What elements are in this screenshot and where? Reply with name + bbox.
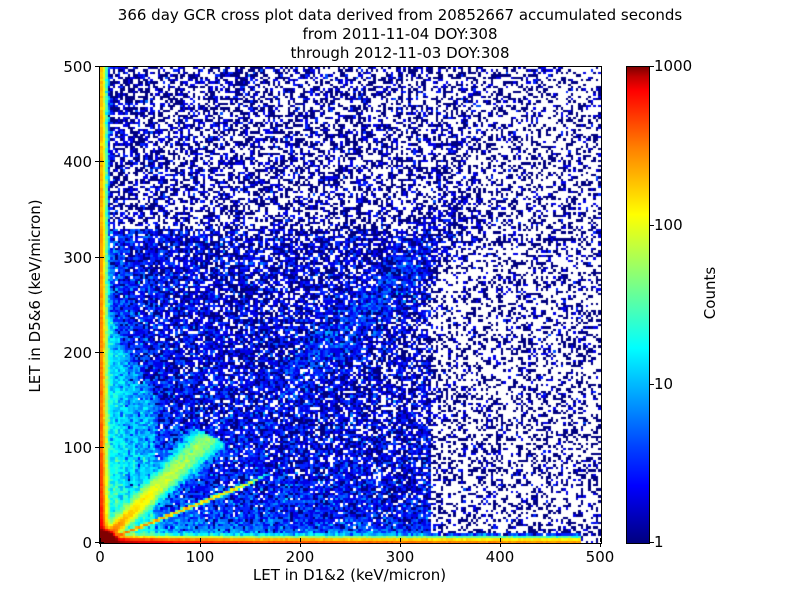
y-axis-label: LET in D5&6 (keV/micron): [26, 131, 44, 461]
y-tick-label-500: 500: [32, 58, 92, 76]
x-axis-label: LET in D1&2 (keV/micron): [99, 566, 600, 584]
x-tick-label-500: 500: [570, 548, 630, 566]
chart-title-line-2: from 2011-11-04 DOY:308: [0, 25, 800, 44]
colorbar: [626, 66, 650, 544]
x-tick-label-200: 200: [270, 548, 330, 566]
x-tick-label-400: 400: [470, 548, 530, 566]
colorbar-label: Counts: [701, 213, 719, 373]
colorbar-tick-label-100: 100: [654, 216, 683, 234]
chart-title: 366 day GCR cross plot data derived from…: [0, 6, 800, 63]
y-tick-label-0: 0: [32, 534, 92, 552]
plot-axes: [99, 66, 602, 544]
colorbar-tick-label-10: 10: [654, 375, 673, 393]
x-tick-label-300: 300: [370, 548, 430, 566]
colorbar-tick-label-1000: 1000: [654, 57, 692, 75]
figure-canvas: 366 day GCR cross plot data derived from…: [0, 0, 800, 600]
scatter-heatmap-canvas: [100, 67, 601, 543]
chart-title-line-1: 366 day GCR cross plot data derived from…: [0, 6, 800, 25]
colorbar-gradient: [627, 67, 649, 543]
colorbar-tick-label-1: 1: [654, 533, 664, 551]
x-tick-label-100: 100: [170, 548, 230, 566]
